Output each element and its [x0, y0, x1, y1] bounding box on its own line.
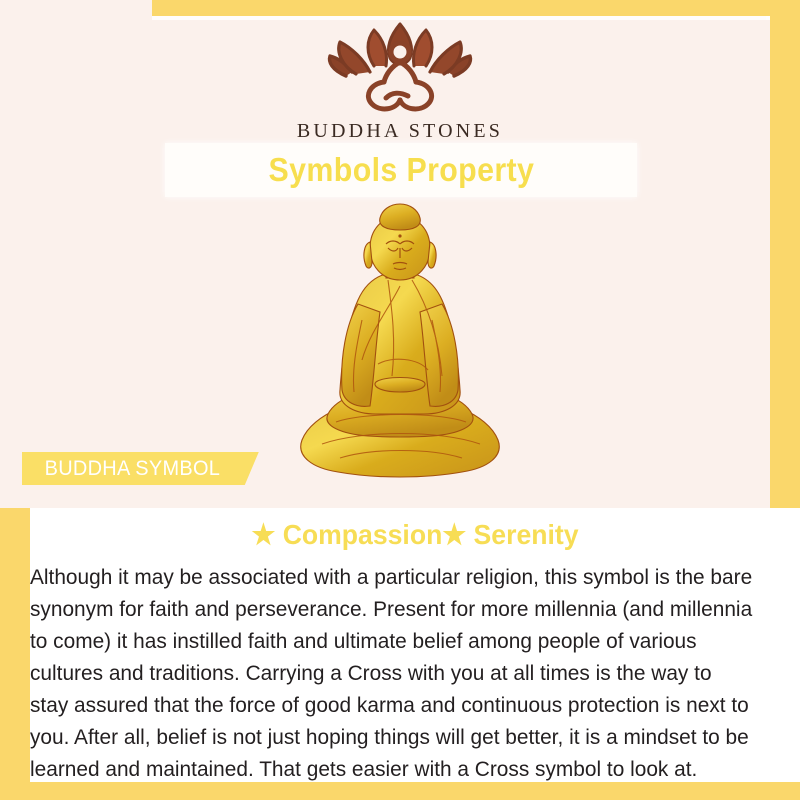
- section-subheading: ★ Compassion★ Serenity: [49, 508, 781, 551]
- section-paragraph: Although it may be associated with a par…: [30, 551, 777, 785]
- brand-logo: BUDDHA STONES: [0, 22, 800, 143]
- symbol-tag-label: BUDDHA SYMBOL: [45, 457, 221, 481]
- frame-top-border: [152, 0, 800, 16]
- golden-seated-buddha-statue-icon: [292, 200, 508, 488]
- brand-name: BUDDHA STONES: [0, 120, 800, 143]
- title-banner: Symbols Property: [165, 143, 637, 197]
- symbol-tag: BUDDHA SYMBOL: [22, 452, 259, 485]
- content-panel: ★ Compassion★ Serenity Although it may b…: [30, 508, 800, 782]
- page-title: Symbols Property: [268, 151, 534, 189]
- poster-root: BUDDHA STONES Symbols Property: [0, 0, 800, 800]
- lotus-meditation-logo-icon: [312, 22, 488, 118]
